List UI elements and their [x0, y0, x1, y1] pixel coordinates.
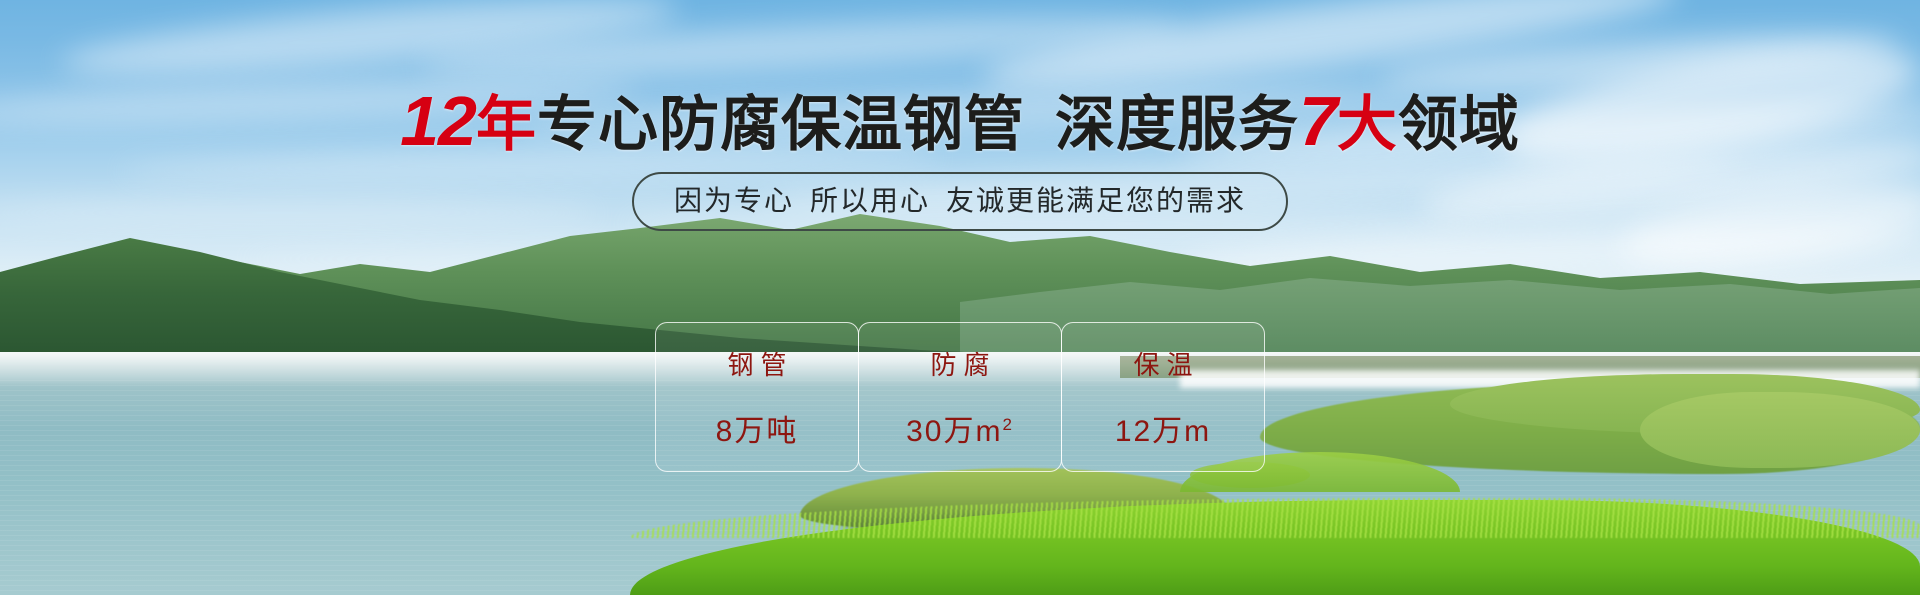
headline-service-text: 深度服务 [1055, 91, 1299, 158]
stat-card-value: 12万m [1115, 406, 1211, 450]
stat-card-insulation: 保温 12万m [1061, 322, 1265, 472]
subtitle-part-3: 友诚更能满足您的需求 [946, 185, 1246, 216]
stat-card-value: 8万吨 [716, 406, 799, 450]
banner-content: 12年专心防腐保温钢管深度服务7大领域 因为专心所以用心友诚更能满足您的需求 钢… [0, 0, 1920, 595]
stat-card-title: 保温 [1126, 345, 1199, 382]
stat-card-value: 30万m2 [906, 406, 1014, 450]
subtitle-container: 因为专心所以用心友诚更能满足您的需求 [0, 172, 1920, 231]
headline-main-text: 专心防腐保温钢管 [537, 91, 1025, 158]
stat-card-title: 防腐 [923, 345, 996, 382]
stat-card-value-text: 12万m [1115, 415, 1211, 448]
headline-fields-text: 领域 [1398, 91, 1520, 158]
headline: 12年专心防腐保温钢管深度服务7大领域 [0, 86, 1920, 156]
stats-card-group: 钢管 8万吨 防腐 30万m2 保温 12万m [655, 322, 1265, 472]
headline-years-number: 12 [400, 82, 476, 160]
stat-card-value-superscript: 2 [1002, 415, 1013, 434]
subtitle-pill: 因为专心所以用心友诚更能满足您的需求 [632, 172, 1288, 231]
subtitle-part-1: 因为专心 [674, 185, 794, 216]
stat-card-title: 钢管 [720, 345, 793, 382]
stat-card-value-text: 8万吨 [716, 415, 799, 448]
stat-card-anticorrosion: 防腐 30万m2 [858, 322, 1062, 472]
stat-card-value-text: 30万m [906, 415, 1002, 448]
headline-fields-unit: 大 [1337, 91, 1398, 158]
subtitle-part-2: 所以用心 [810, 185, 930, 216]
hero-banner: 12年专心防腐保温钢管深度服务7大领域 因为专心所以用心友诚更能满足您的需求 钢… [0, 0, 1920, 595]
stat-card-steel-pipe: 钢管 8万吨 [655, 322, 859, 472]
headline-years-unit: 年 [476, 91, 537, 158]
headline-fields-number: 7 [1299, 82, 1337, 160]
